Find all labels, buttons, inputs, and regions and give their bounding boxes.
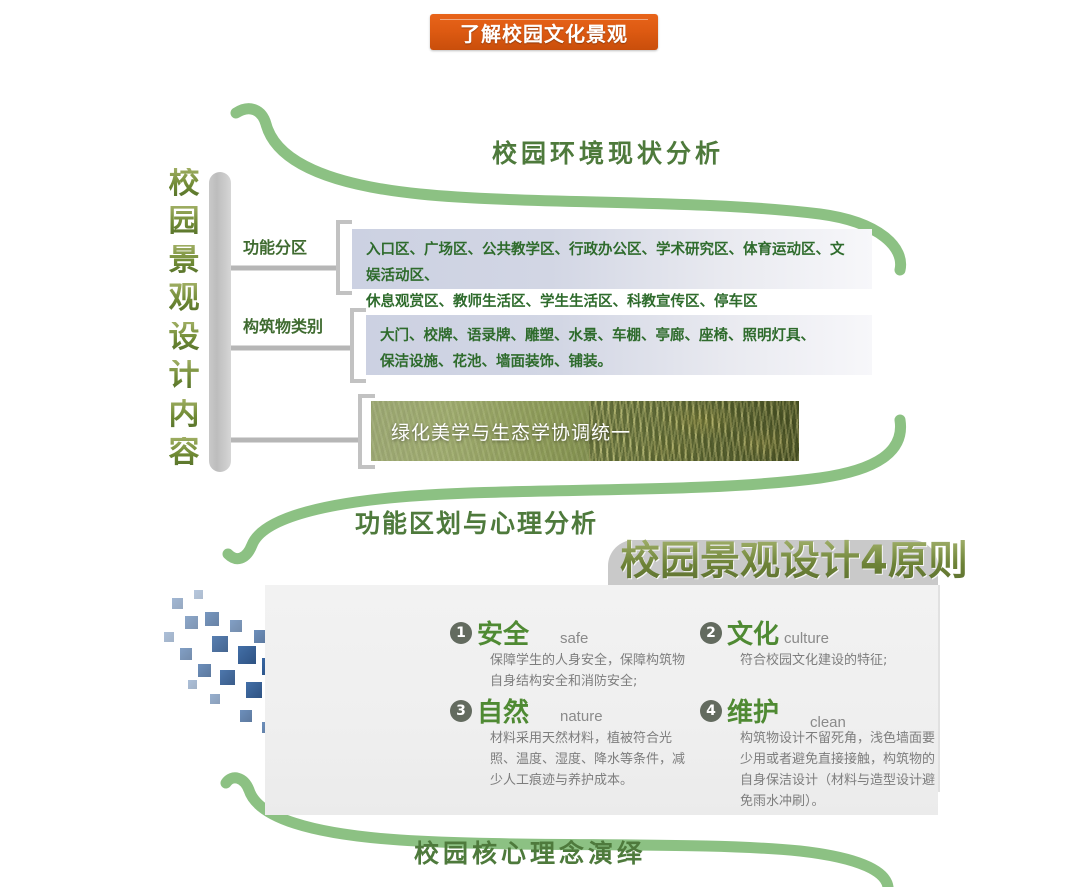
vtitle-char-5: 计 xyxy=(169,360,200,391)
content-box-structure-types: 大门、校牌、语录牌、雕塑、水景、车棚、亭廊、座椅、照明灯具、 保洁设施、花池、墙… xyxy=(366,315,872,375)
vtitle-char-0: 校 xyxy=(169,168,200,199)
heading-principles: 校园景观设计4原则 xyxy=(620,528,968,586)
vtitle-char-6: 内 xyxy=(169,399,200,430)
row-label-structure-types: 构筑物类别 xyxy=(243,313,323,337)
content-line: 休息观赏区、教师生活区、学生生活区、科教宣传区、停车区 xyxy=(366,289,858,315)
principle-title-cn: 安全 xyxy=(477,614,529,651)
heading-environment-analysis: 校园环境现状分析 xyxy=(492,134,724,170)
row-label-functional-zoning: 功能分区 xyxy=(243,234,307,258)
principle-title-en: safe xyxy=(560,630,588,647)
page-title-banner: 了解校园文化景观 xyxy=(430,14,658,50)
content-line: 保洁设施、花池、墙面装饰、铺装。 xyxy=(380,349,858,375)
principle-number: 1 xyxy=(450,622,472,644)
principle-title-cn: 文化 xyxy=(727,614,779,651)
content-box-functional-zoning: 入口区、广场区、公共教学区、行政办公区、学术研究区、体育运动区、文娱活动区、 休… xyxy=(352,229,872,289)
principle-number: 3 xyxy=(450,700,472,722)
vtitle-char-2: 景 xyxy=(169,245,200,276)
photo-band-caption: 绿化美学与生态学协调统一 xyxy=(391,418,631,445)
principle-title-cn: 自然 xyxy=(477,692,529,729)
principle-description: 符合校园文化建设的特征; xyxy=(740,650,887,671)
landscape-photo-band: 绿化美学与生态学协调统一 xyxy=(371,401,799,461)
vtitle-char-4: 设 xyxy=(169,322,200,353)
principle-description: 构筑物设计不留死角，浅色墙面要少用或者避免直接接触，构筑物的自身保洁设计（材料与… xyxy=(740,728,935,812)
principle-description: 材料采用天然材料，植被符合光照、温度、湿度、降水等条件，减少人工痕迹与养护成本。 xyxy=(490,728,685,791)
page-title: 了解校园文化景观 xyxy=(460,18,628,47)
heading-zoning-psychology: 功能区划与心理分析 xyxy=(355,504,598,540)
principle-title-en: nature xyxy=(560,708,603,725)
vtitle-char-1: 园 xyxy=(169,206,200,237)
poster-canvas: 了解校园文化景观 校 园 景 观 设 计 内 容 校园环境现状分析 功能区划与心… xyxy=(0,0,1078,887)
content-line: 入口区、广场区、公共教学区、行政办公区、学术研究区、体育运动区、文娱活动区、 xyxy=(366,237,858,289)
vtitle-char-7: 容 xyxy=(169,437,200,468)
principle-description: 保障学生的人身安全，保障构筑物自身结构安全和消防安全; xyxy=(490,650,685,692)
principle-title-en: culture xyxy=(784,630,829,647)
content-line: 大门、校牌、语录牌、雕塑、水景、车棚、亭廊、座椅、照明灯具、 xyxy=(380,323,858,349)
vtitle-char-3: 观 xyxy=(169,283,200,314)
principle-number: 2 xyxy=(700,622,722,644)
heading-core-concept: 校园核心理念演绎 xyxy=(414,834,646,870)
principle-title-cn: 维护 xyxy=(727,692,779,729)
left-vertical-bar xyxy=(209,172,231,472)
principle-number: 4 xyxy=(700,700,722,722)
left-vertical-title: 校 园 景 观 设 计 内 容 xyxy=(163,168,205,468)
